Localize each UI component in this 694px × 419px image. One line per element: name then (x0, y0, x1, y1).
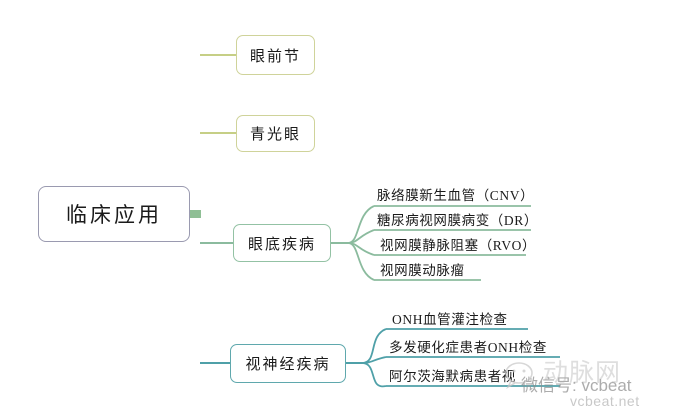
fanout-curve-optic-1 (362, 329, 386, 363)
leaf-optic-onh-perfusion[interactable]: ONH血管灌注检查 (392, 311, 508, 328)
node-branch-fundus-disease[interactable]: 眼底疾病 (233, 224, 331, 262)
node-root[interactable]: 临床应用 (38, 186, 190, 242)
leaf-optic-alzheimer[interactable]: 阿尔茨海默病患者视 (389, 368, 516, 385)
leaf-fundus-retinal-aneurysm[interactable]: 视网膜动脉瘤 (380, 262, 465, 279)
leaf-fundus-cnv[interactable]: 脉络膜新生血管（CNV） (377, 187, 534, 204)
fanout-curve-fundus-1 (348, 206, 374, 243)
node-branch-label: 眼前节 (250, 45, 301, 66)
fanout-curve-fundus-3 (348, 243, 374, 255)
node-root-label: 临床应用 (66, 199, 162, 229)
watermark-wechat-id: 微信号: vcbeat (521, 371, 632, 396)
node-branch-anterior-segment[interactable]: 眼前节 (236, 35, 315, 75)
fanout-curve-fundus-4 (348, 243, 374, 280)
watermark-url: vcbeat.net (570, 393, 640, 409)
node-branch-glaucoma[interactable]: 青光眼 (236, 115, 315, 152)
mindmap-canvas: 临床应用 眼前节 青光眼 眼底疾病 视神经疾病 脉络膜新生血管（CNV） 糖尿病… (0, 0, 694, 419)
fanout-curve-optic-3 (362, 363, 386, 386)
leaf-fundus-rvo[interactable]: 视网膜静脉阻塞（RVO） (380, 237, 536, 254)
leaf-fundus-dr[interactable]: 糖尿病视网膜病变（DR） (377, 212, 538, 229)
node-branch-label: 眼底疾病 (248, 233, 316, 254)
leaf-optic-ms-onh[interactable]: 多发硬化症患者ONH检查 (389, 339, 547, 356)
fanout-curve-fundus-2 (348, 230, 374, 243)
node-branch-label: 视神经疾病 (245, 353, 330, 374)
watermark-logo: 动脉网 (543, 353, 621, 389)
node-branch-optic-nerve-disease[interactable]: 视神经疾病 (230, 344, 346, 383)
node-branch-label: 青光眼 (250, 123, 301, 144)
fanout-curve-optic-2 (362, 357, 386, 363)
